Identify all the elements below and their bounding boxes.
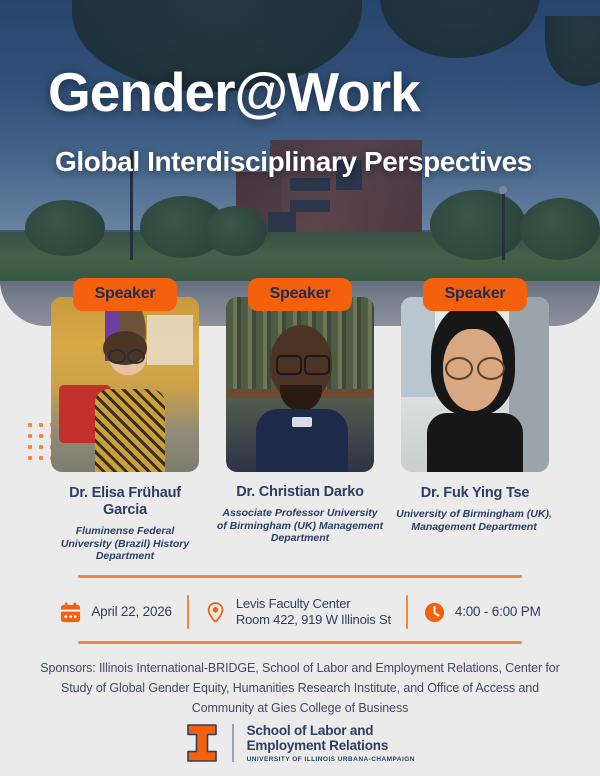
event-separator <box>187 595 189 629</box>
speaker-card: Speaker Dr. Elisa Frühauf Garcia Flumine… <box>50 278 200 563</box>
logo-text: School of Labor and Employment Relations… <box>247 723 415 764</box>
speaker-affiliation: Fluminense Federal University (Brazil) H… <box>50 525 200 563</box>
calendar-icon <box>59 601 82 624</box>
speaker-photo <box>401 297 549 472</box>
poster-title: Gender@Work <box>48 64 568 120</box>
location-line-1: Levis Faculty Center <box>236 596 351 611</box>
block-i-icon <box>185 723 219 763</box>
clock-icon <box>423 601 446 624</box>
speaker-photo <box>226 297 374 472</box>
sponsors-text: Sponsors: Illinois International-BRIDGE,… <box>40 658 560 718</box>
portrait-elisa-fruhauf-garcia <box>51 297 199 472</box>
speaker-name: Dr. Christian Darko <box>225 484 375 501</box>
logo-line-2: Employment Relations <box>247 738 415 753</box>
event-separator <box>406 595 408 629</box>
portrait-fuk-ying-tse <box>401 297 549 472</box>
speaker-card: Speaker Dr. Christian Darko Associate Pr… <box>225 278 375 545</box>
speaker-name: Dr. Fuk Ying Tse <box>400 485 550 502</box>
speaker-affiliation: Associate Professor University of Birmin… <box>216 507 384 545</box>
speaker-photo <box>51 297 199 472</box>
logo-lockup: School of Labor and Employment Relations… <box>0 723 600 764</box>
event-date: April 22, 2026 <box>59 601 172 624</box>
event-details-bar: April 22, 2026 Levis Faculty Center Room… <box>0 590 600 634</box>
logo-divider <box>232 724 234 762</box>
speaker-badge: Speaker <box>73 278 177 311</box>
location-line-2: Room 422, 919 W Illinois St <box>236 612 391 627</box>
event-date-text: April 22, 2026 <box>91 604 172 620</box>
logo-line-1: School of Labor and <box>247 723 415 738</box>
event-poster: Gender@Work Global Interdisciplinary Per… <box>0 0 600 776</box>
speaker-affiliation: University of Birmingham (UK), Managemen… <box>388 508 560 533</box>
event-time-text: 4:00 - 6:00 PM <box>455 604 541 620</box>
speaker-name: Dr. Elisa Frühauf Garcia <box>50 485 200 519</box>
speaker-badge: Speaker <box>248 278 352 311</box>
speaker-card: Speaker Dr. Fuk Ying Tse University of B… <box>400 278 550 533</box>
logo-line-3: UNIVERSITY OF ILLINOIS URBANA-CHAMPAIGN <box>247 757 415 764</box>
divider-bottom <box>78 641 522 644</box>
portrait-christian-darko <box>226 297 374 472</box>
event-location-text: Levis Faculty Center Room 422, 919 W Ill… <box>236 596 391 628</box>
poster-subtitle: Global Interdisciplinary Perspectives <box>55 146 575 178</box>
divider-top <box>78 575 522 578</box>
event-location: Levis Faculty Center Room 422, 919 W Ill… <box>204 596 391 628</box>
location-pin-icon <box>204 601 227 624</box>
event-time: 4:00 - 6:00 PM <box>423 601 541 624</box>
speaker-badge: Speaker <box>423 278 527 311</box>
